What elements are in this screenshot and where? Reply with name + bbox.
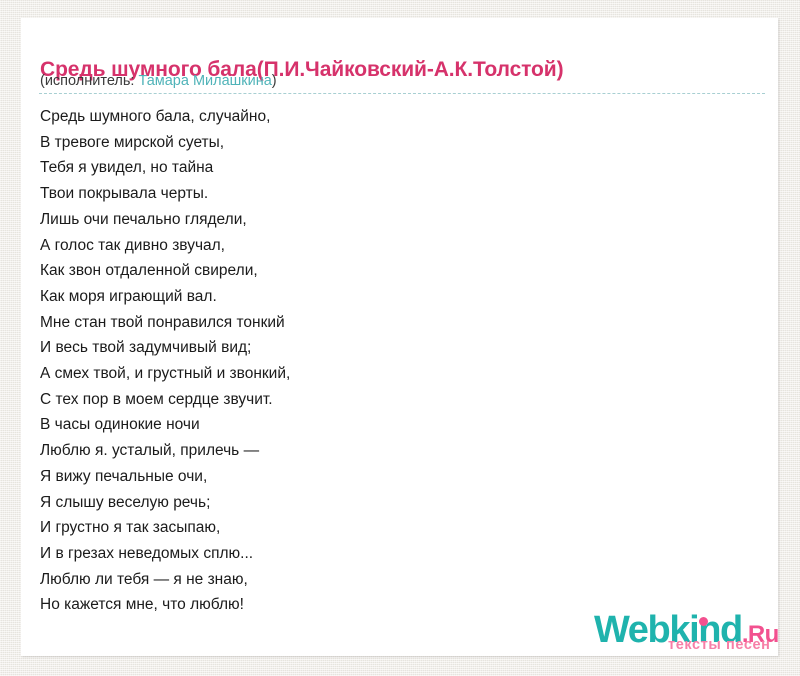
lyrics-line: Я вижу печальные очи, <box>40 464 740 490</box>
lyrics-body: Средь шумного бала, случайно, В тревоге … <box>40 104 740 618</box>
performer-label: (исполнитель: <box>40 73 138 89</box>
performer-link[interactable]: Тамара Милашкина <box>138 73 271 89</box>
lyrics-line: Средь шумного бала, случайно, <box>40 104 740 130</box>
lyrics-line: Мне стан твой понравился тонкий <box>40 310 740 336</box>
lyrics-line: Твои покрывала черты. <box>40 181 740 207</box>
lyrics-line: Лишь очи печально глядели, <box>40 207 740 233</box>
lyrics-line: Как моря играющий вал. <box>40 284 740 310</box>
lyrics-line: А голос так дивно звучал, <box>40 233 740 259</box>
header-divider <box>39 93 765 94</box>
lyrics-line: Люблю я. усталый, прилечь — <box>40 438 740 464</box>
lyrics-line: Как звон отдаленной свирели, <box>40 258 740 284</box>
lyrics-line: Люблю ли тебя — я не знаю, <box>40 567 740 593</box>
lyrics-card: Средь шумного бала(П.И.Чайковский-А.К.То… <box>21 18 778 656</box>
logo-text-web: Web <box>594 609 669 651</box>
site-logo[interactable]: Webkind.Ru тексты песен <box>574 609 778 656</box>
logo-dot-icon <box>699 617 708 626</box>
performer-suffix: ) <box>272 73 277 89</box>
lyrics-line: И грустно я так засыпаю, <box>40 515 740 541</box>
lyrics-line: В часы одинокие ночи <box>40 412 740 438</box>
lyrics-line: Я слышу веселую речь; <box>40 490 740 516</box>
lyrics-line: Тебя я увидел, но тайна <box>40 155 740 181</box>
lyrics-line: А смех твой, и грустный и звонкий, <box>40 361 740 387</box>
lyrics-line: И в грезах неведомых сплю... <box>40 541 740 567</box>
performer-line: (исполнитель: Тамара Милашкина) <box>40 73 277 89</box>
lyrics-line: И весь твой задумчивый вид; <box>40 335 740 361</box>
lyrics-line: С тех пор в моем сердце звучит. <box>40 387 740 413</box>
lyrics-line: В тревоге мирской суеты, <box>40 130 740 156</box>
logo-subtitle: тексты песен <box>668 637 771 653</box>
